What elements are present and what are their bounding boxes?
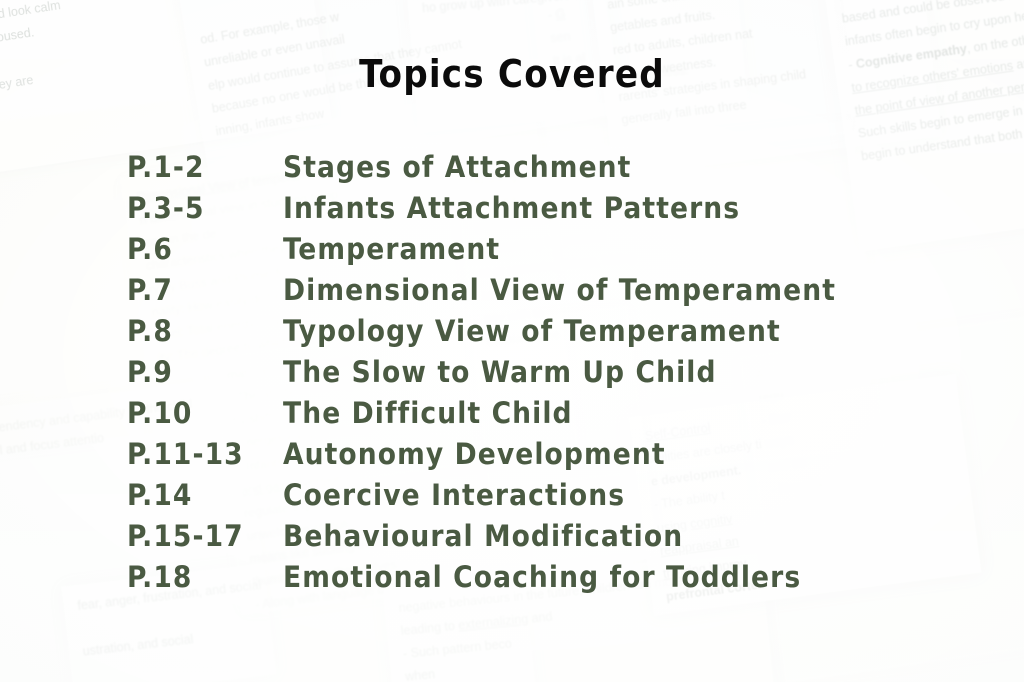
topic-page-label: P.7 bbox=[127, 273, 283, 307]
topic-row: P.18Emotional Coaching for Toddlers bbox=[127, 560, 987, 601]
topic-page-label: P.3-5 bbox=[127, 191, 283, 225]
topic-page-label: P.11-13 bbox=[127, 437, 283, 471]
topic-title: Dimensional View of Temperament bbox=[283, 273, 836, 307]
topic-title: Temperament bbox=[283, 232, 500, 266]
topic-row: P.10The Difficult Child bbox=[127, 396, 987, 437]
topic-row: P.6Temperament bbox=[127, 232, 987, 273]
topic-title: Autonomy Development bbox=[283, 437, 666, 471]
topic-page-label: P.14 bbox=[127, 478, 283, 512]
topic-page-label: P.6 bbox=[127, 232, 283, 266]
topic-page-label: P.8 bbox=[127, 314, 283, 348]
topic-page-label: P.1-2 bbox=[127, 150, 283, 184]
topic-title: Coercive Interactions bbox=[283, 478, 625, 512]
topic-row: P.14Coercive Interactions bbox=[127, 478, 987, 519]
topic-row: P.7Dimensional View of Temperament bbox=[127, 273, 987, 314]
topics-list: P.1-2Stages of AttachmentP.3-5Infants At… bbox=[127, 150, 987, 601]
page-title: Topics Covered bbox=[0, 52, 1024, 96]
topic-row: P.9The Slow to Warm Up Child bbox=[127, 355, 987, 396]
topic-row: P.15-17Behavioural Modification bbox=[127, 519, 987, 560]
topic-title: Behavioural Modification bbox=[283, 519, 683, 553]
topic-page-label: P.10 bbox=[127, 396, 283, 430]
topic-title: The Slow to Warm Up Child bbox=[283, 355, 717, 389]
topic-row: P.3-5Infants Attachment Patterns bbox=[127, 191, 987, 232]
topic-row: P.8Typology View of Temperament bbox=[127, 314, 987, 355]
topic-title: Emotional Coaching for Toddlers bbox=[283, 560, 801, 594]
topic-title: Infants Attachment Patterns bbox=[283, 191, 740, 225]
presentation-slide: that crying for help is useless sostress… bbox=[0, 0, 1024, 682]
topic-page-label: P.9 bbox=[127, 355, 283, 389]
topic-page-label: P.18 bbox=[127, 560, 283, 594]
topic-title: The Difficult Child bbox=[283, 396, 573, 430]
slide-content: Topics Covered P.1-2Stages of Attachment… bbox=[0, 0, 1024, 682]
topic-title: Stages of Attachment bbox=[283, 150, 631, 184]
topic-row: P.11-13Autonomy Development bbox=[127, 437, 987, 478]
topic-page-label: P.15-17 bbox=[127, 519, 283, 553]
topic-title: Typology View of Temperament bbox=[283, 314, 781, 348]
topic-row: P.1-2Stages of Attachment bbox=[127, 150, 987, 191]
